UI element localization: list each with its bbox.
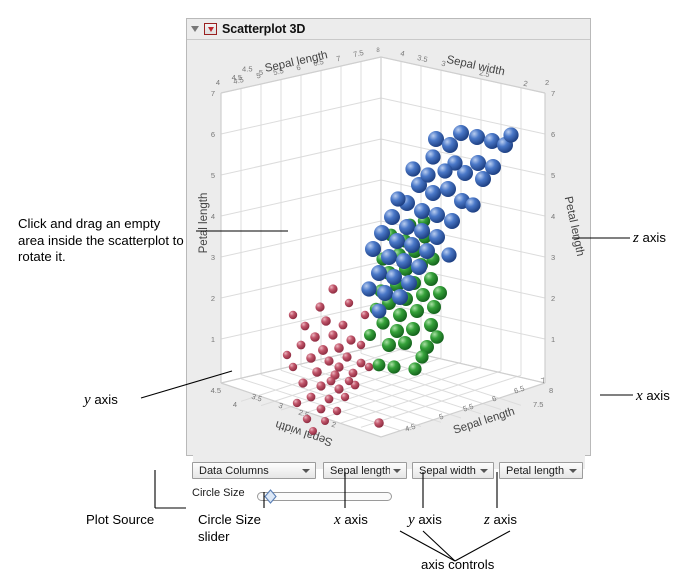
rotate-hint-note: Click and drag an empty area inside the … xyxy=(18,216,188,266)
z-control-word: axis xyxy=(490,512,517,527)
annotation-y-axis: y axis xyxy=(84,392,118,409)
annotation-x-axis: x axis xyxy=(636,388,670,405)
y-control-symbol: y xyxy=(408,512,415,528)
x-axis-word: axis xyxy=(643,388,670,403)
annotation-axis-controls: axis controls xyxy=(421,557,494,574)
z-axis-word: axis xyxy=(639,230,666,245)
annotation-plot-source: Plot Source xyxy=(86,512,154,529)
annotation-leader-lines xyxy=(0,0,689,582)
annotation-y-control: y axis xyxy=(408,512,442,529)
annotation-circle-size-slider: Circle Size slider xyxy=(198,512,284,545)
y-axis-symbol: y xyxy=(84,392,91,408)
annotation-z-control: z axis xyxy=(484,512,517,529)
y-control-word: axis xyxy=(415,512,442,527)
x-control-symbol: x xyxy=(334,512,341,528)
x-control-word: axis xyxy=(341,512,368,527)
y-axis-word: axis xyxy=(91,392,118,407)
x-axis-symbol: x xyxy=(636,388,643,404)
annotation-x-control: x axis xyxy=(334,512,368,529)
annotation-z-axis: z axis xyxy=(633,230,666,247)
